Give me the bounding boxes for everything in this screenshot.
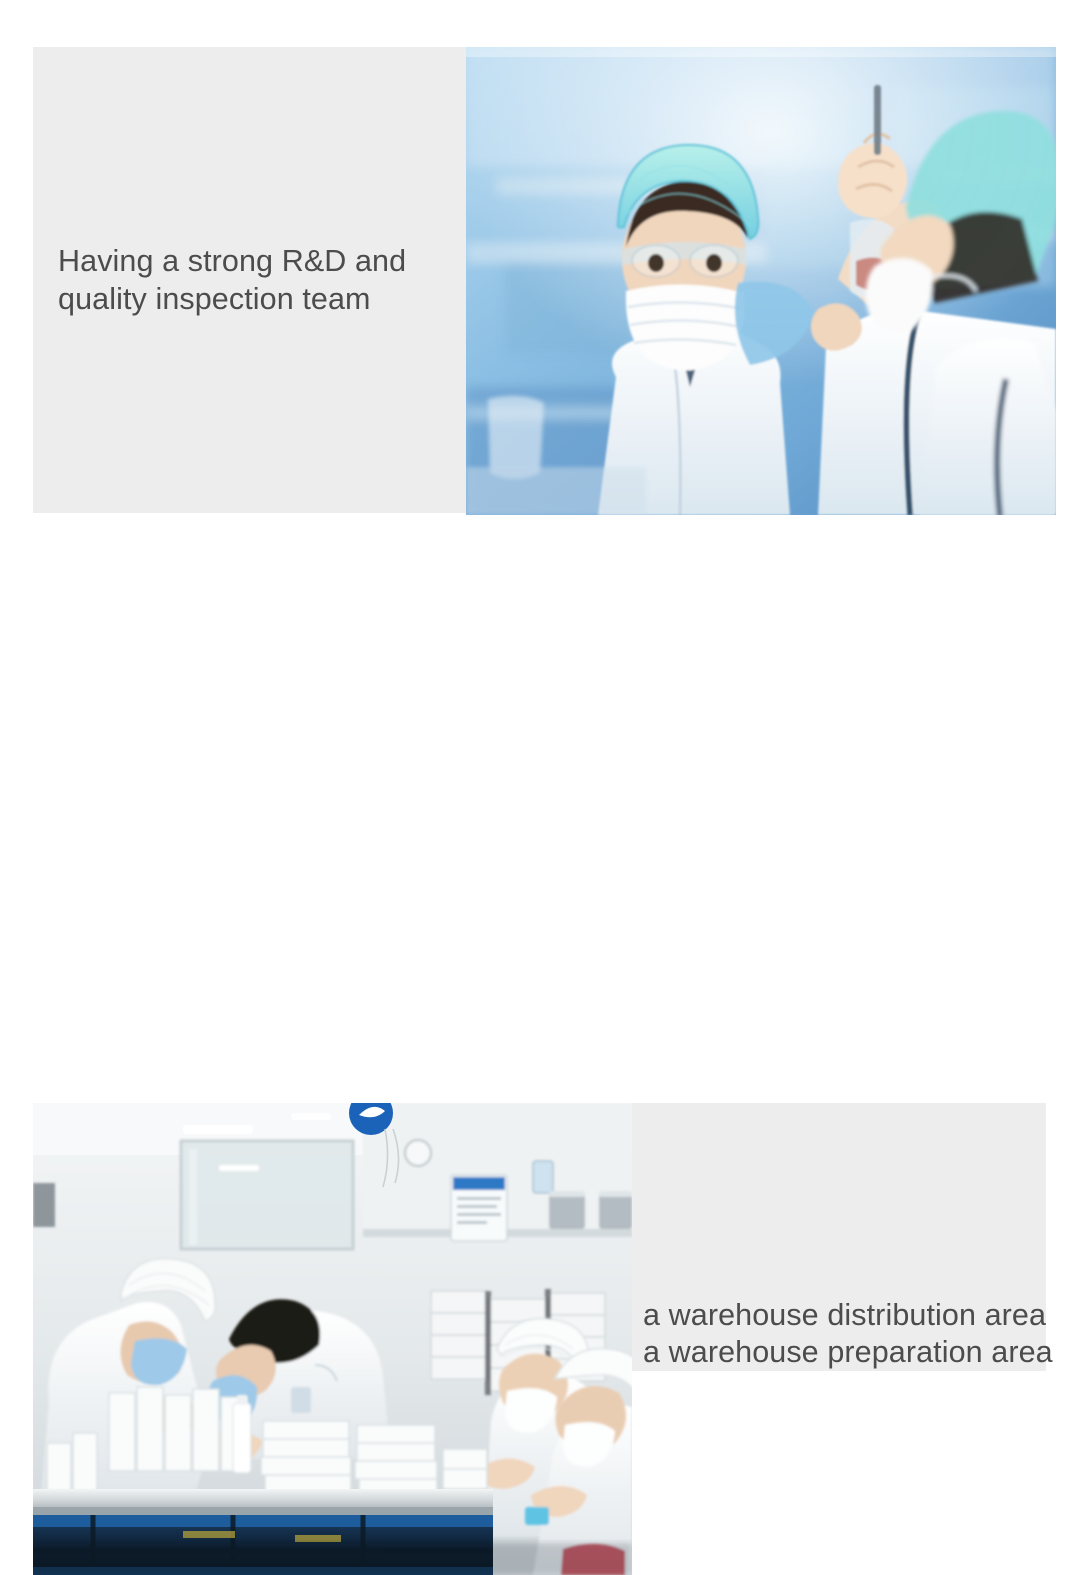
top-caption-text: Having a strong R&D and quality inspecti… — [58, 242, 458, 318]
warehouse-photo-graphic — [33, 1103, 632, 1575]
warehouse-packing-photo — [33, 1103, 632, 1575]
lab-quality-inspection-photo — [466, 47, 1056, 515]
bottom-section: a warehouse distribution area a warehous… — [0, 545, 1080, 1080]
bottom-caption-text: a warehouse distribution area a warehous… — [643, 1297, 1063, 1371]
top-section: Having a strong R&D and quality inspecti… — [0, 0, 1080, 545]
lab-photo-graphic — [466, 47, 1056, 515]
